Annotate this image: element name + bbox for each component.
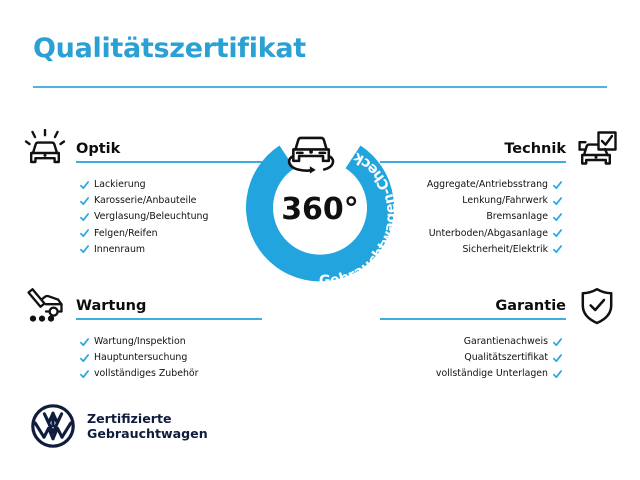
list-item: Hauptuntersuchung — [80, 350, 262, 366]
right-column: Technik Aggregate/Antriebsstrang Lenkung… — [380, 128, 620, 383]
list-item-label: vollständige Unterlagen — [436, 366, 548, 382]
list-item-label: vollständiges Zubehör — [94, 366, 199, 382]
section-wartung-underline — [76, 318, 262, 320]
section-garantie-underline — [380, 318, 566, 320]
section-technik-header: Technik — [380, 128, 620, 170]
check-icon — [80, 338, 89, 347]
list-item: vollständige Unterlagen — [380, 366, 562, 382]
section-wartung: Wartung Wartung/Inspektion Hauptuntersuc… — [22, 285, 262, 383]
list-item-label: Karosserie/Anbauteile — [94, 193, 196, 209]
title-divider — [33, 86, 607, 88]
section-garantie-title: Garantie — [380, 299, 566, 315]
check-icon — [80, 370, 89, 379]
section-garantie: Garantie Garantienachweis Qualitätszerti… — [380, 285, 620, 383]
check-icon — [553, 354, 562, 363]
check-icon — [80, 245, 89, 254]
section-wartung-header: Wartung — [22, 285, 262, 327]
list-item-label: Lenkung/Fahrwerk — [462, 193, 548, 209]
section-wartung-title: Wartung — [76, 299, 262, 315]
check-icon — [80, 354, 89, 363]
footer-brand: Zertifizierte Gebrauchtwagen — [31, 404, 208, 448]
list-item-label: Felgen/Reifen — [94, 226, 158, 242]
badge-360-gebrauchtwagen-check: Gebrauchtwagen-Check 360° — [232, 118, 408, 294]
section-optik-header: Optik — [22, 128, 262, 170]
section-optik-list: Lackierung Karosserie/Anbauteile Verglas… — [22, 177, 262, 258]
car-checkbox-icon — [574, 128, 620, 170]
footer-brand-text: Zertifizierte Gebrauchtwagen — [87, 411, 208, 442]
check-icon — [80, 213, 89, 222]
list-item-label: Lackierung — [94, 177, 146, 193]
check-icon — [80, 181, 89, 190]
check-icon — [553, 229, 562, 238]
shield-check-icon — [574, 285, 620, 327]
left-column: Optik Lackierung Karosserie/Anbauteile V… — [22, 128, 262, 383]
section-technik-list: Aggregate/Antriebsstrang Lenkung/Fahrwer… — [380, 177, 620, 258]
page-title: Qualitätszertifikat — [33, 33, 306, 64]
check-icon — [553, 245, 562, 254]
list-item: Wartung/Inspektion — [80, 334, 262, 350]
footer-line-1: Zertifizierte — [87, 411, 208, 427]
check-icon — [553, 181, 562, 190]
check-icon — [553, 197, 562, 206]
section-optik: Optik Lackierung Karosserie/Anbauteile V… — [22, 128, 262, 258]
rotate-arrowhead — [310, 166, 316, 173]
section-garantie-header: Garantie — [380, 285, 620, 327]
list-item-label: Innenraum — [94, 242, 145, 258]
list-item-label: Wartung/Inspektion — [94, 334, 186, 350]
vw-logo-icon — [31, 404, 75, 448]
list-item-label: Garantienachweis — [464, 334, 548, 350]
section-technik: Technik Aggregate/Antriebsstrang Lenkung… — [380, 128, 620, 258]
check-icon — [80, 197, 89, 206]
list-item-label: Sicherheit/Elektrik — [462, 242, 548, 258]
list-item-label: Aggregate/Antriebsstrang — [427, 177, 548, 193]
badge-center-label: 360° — [281, 192, 359, 227]
list-item-label: Bremsanlage — [486, 209, 548, 225]
car-wrench-icon — [22, 285, 68, 327]
footer-line-2: Gebrauchtwagen — [87, 426, 208, 442]
list-item-label: Hauptuntersuchung — [94, 350, 187, 366]
list-item: Garantienachweis — [380, 334, 562, 350]
check-icon — [80, 229, 89, 238]
car-rotate-icon — [289, 138, 333, 174]
check-icon — [553, 338, 562, 347]
section-garantie-list: Garantienachweis Qualitätszertifikat vol… — [380, 334, 620, 383]
section-wartung-list: Wartung/Inspektion Hauptuntersuchung vol… — [22, 334, 262, 383]
list-item-label: Verglasung/Beleuchtung — [94, 209, 208, 225]
list-item: Qualitätszertifikat — [380, 350, 562, 366]
list-item: vollständiges Zubehör — [80, 366, 262, 382]
check-icon — [553, 213, 562, 222]
car-shine-icon — [22, 128, 68, 170]
check-icon — [553, 370, 562, 379]
list-item-label: Qualitätszertifikat — [464, 350, 548, 366]
list-item-label: Unterboden/Abgasanlage — [429, 226, 548, 242]
